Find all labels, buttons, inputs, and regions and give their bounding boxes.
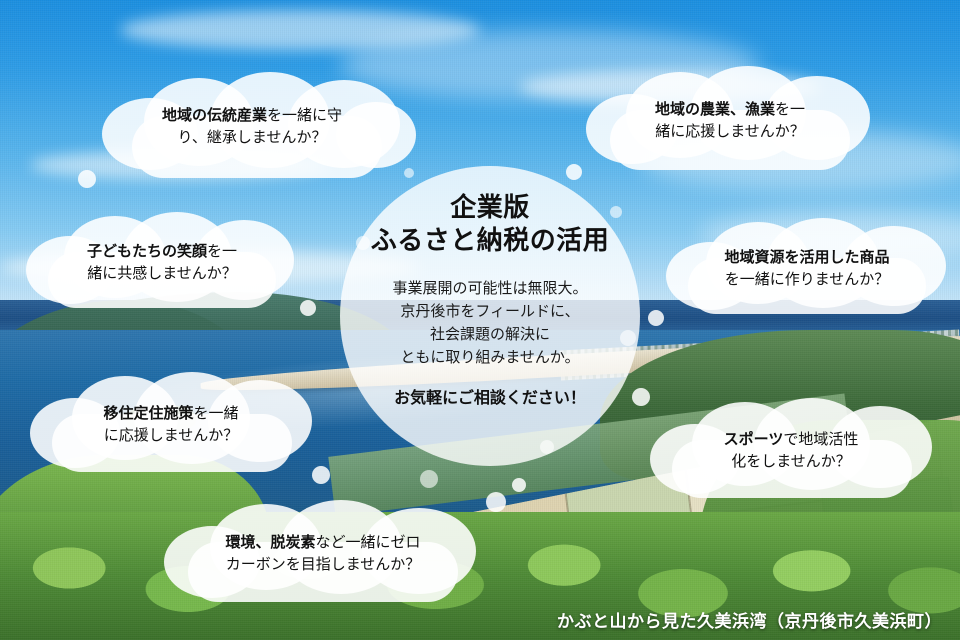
bubble-sports: スポーツで地域活性 化をしませんか？ xyxy=(646,398,936,502)
bubble-local-resources-bold: 地域資源を活用した商品 xyxy=(724,248,889,266)
bubble-sports-bold: スポーツ xyxy=(724,430,784,448)
bubble-zero-carbon-rest: など一緒にゼロ xyxy=(316,533,421,551)
bubble-children-smiles-bold: 子どもたちの笑顔 xyxy=(87,242,207,260)
bubble-children-smiles-line2: 緒に共感しませんか？ xyxy=(87,264,237,282)
decor-dot xyxy=(404,168,414,178)
bubble-migration-settlement-bold: 移住定住施策 xyxy=(103,404,193,422)
bubble-tradition-bold: 地域の伝統産業 xyxy=(162,106,267,124)
main-body-text: 事業展開の可能性は無限大。 京丹後市をフィールドに、 社会課題の解決に ともに取… xyxy=(392,277,587,370)
bubble-sports-rest: で地域活性 xyxy=(783,430,858,448)
bubble-zero-carbon-bold: 環境、脱炭素 xyxy=(225,533,315,551)
title-line-2: ふるさと納税の活用 xyxy=(371,225,610,258)
bubble-sports-line2: 化をしませんか？ xyxy=(731,452,851,470)
decor-dot xyxy=(356,236,370,250)
bubble-tail-dot xyxy=(566,164,582,180)
bubble-zero-carbon-line2: カーボンを目指しませんか？ xyxy=(226,555,421,573)
bubble-local-resources-line2: を一緒に作りませんか？ xyxy=(725,270,890,288)
bubble-tail-dot xyxy=(312,466,330,484)
photo-caption: かぶと山から見た久美浜湾（京丹後市久美浜町） xyxy=(557,607,942,632)
bubble-migration-settlement-text: 移住定住施策を一緒 に応援しませんか？ xyxy=(89,402,252,447)
bubble-tail-dot xyxy=(78,170,96,188)
decor-dot xyxy=(540,440,554,454)
decor-dot xyxy=(620,330,636,346)
bubble-children-smiles-text: 子どもたちの笑顔を一 緒に共感しませんか？ xyxy=(73,240,251,285)
bubble-sports-text: スポーツで地域活性 化をしませんか？ xyxy=(710,428,873,473)
bubble-migration-settlement: 移住定住施策を一緒 に応援しませんか？ xyxy=(26,372,316,476)
main-message-circle: 企業版 ふるさと納税の活用 事業展開の可能性は無限大。 京丹後市をフィールドに、… xyxy=(340,166,640,466)
body-line-4: ともに取り組みませんか。 xyxy=(392,346,587,369)
bubble-agriculture-fishery: 地域の農業、漁業を一 緒に応援しませんか？ xyxy=(580,66,880,174)
consultation-cta: お気軽にご相談ください！ xyxy=(394,384,586,408)
bubble-agriculture-fishery-text: 地域の農業、漁業を一 緒に応援しませんか？ xyxy=(641,98,819,143)
page-title: 企業版 ふるさと納税の活用 xyxy=(371,192,610,259)
bubble-agriculture-fishery-rest: を一 xyxy=(775,100,805,118)
bubble-tradition-line2: り、継承しませんか？ xyxy=(178,128,327,146)
body-line-3: 社会課題の解決に xyxy=(392,323,587,346)
body-line-2: 京丹後市をフィールドに、 xyxy=(392,300,587,323)
bubble-migration-settlement-rest: を一緒 xyxy=(194,404,239,422)
bubble-tail-dot xyxy=(648,310,664,326)
bubble-children-smiles: 子どもたちの笑顔を一 緒に共感しませんか？ xyxy=(22,212,302,312)
bubble-migration-settlement-line2: に応援しませんか？ xyxy=(104,426,239,444)
bubble-tail-dot xyxy=(486,492,506,512)
bubble-zero-carbon-text: 環境、脱炭素など一緒にゼロ カーボンを目指しませんか？ xyxy=(211,531,434,576)
bubble-tradition: 地域の伝統産業を一緒に守 り、継承しませんか？ xyxy=(92,72,412,180)
bubble-zero-carbon: 環境、脱炭素など一緒にゼロ カーボンを目指しませんか？ xyxy=(158,500,488,606)
decor-dot xyxy=(420,470,438,488)
bubble-children-smiles-rest: を一 xyxy=(207,242,237,260)
bubble-tail-dot xyxy=(512,478,526,492)
bubble-local-resources-text: 地域資源を活用した商品 を一緒に作りませんか？ xyxy=(710,246,903,291)
bubble-agriculture-fishery-bold: 地域の農業、漁業 xyxy=(655,100,775,118)
bubble-tail-dot xyxy=(300,300,316,316)
decor-dot xyxy=(610,206,622,218)
poster-canvas: 企業版 ふるさと納税の活用 事業展開の可能性は無限大。 京丹後市をフィールドに、… xyxy=(0,0,960,640)
bubble-agriculture-fishery-line2: 緒に応援しませんか？ xyxy=(655,122,805,140)
bubble-tradition-text: 地域の伝統産業を一緒に守 り、継承しませんか？ xyxy=(148,104,356,149)
title-line-1: 企業版 xyxy=(371,192,610,225)
bubble-tradition-rest: を一緒に守 xyxy=(267,106,342,124)
body-line-1: 事業展開の可能性は無限大。 xyxy=(392,277,587,300)
bubble-tail-dot xyxy=(632,388,650,406)
bubble-local-resources: 地域資源を活用した商品 を一緒に作りませんか？ xyxy=(662,218,952,318)
